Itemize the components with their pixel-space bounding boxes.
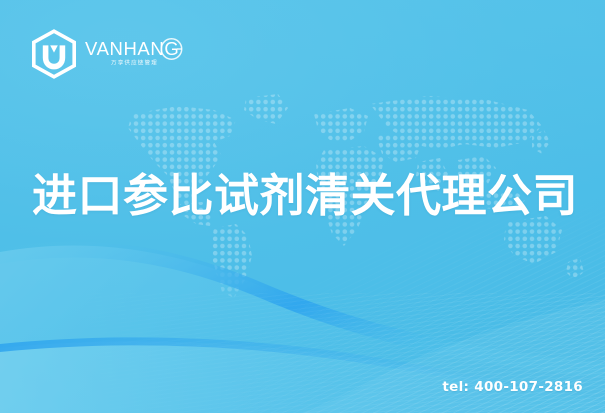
svg-text:万享供应链管理: 万享供应链管理	[111, 59, 158, 67]
contact-phone[interactable]: tel: 400-107-2816	[442, 379, 583, 395]
promo-banner: VANHANG 万享供应链管理 进口参比试剂清关代理公司 tel: 400-10…	[0, 0, 605, 413]
page-title: 进口参比试剂清关代理公司	[32, 173, 578, 218]
hexagon-u-logo-icon	[30, 29, 78, 79]
svg-text:VANHANG: VANHANG	[85, 38, 179, 59]
logo-wordmark: VANHANG 万享供应链管理	[85, 37, 185, 71]
logo[interactable]: VANHANG 万享供应链管理	[30, 29, 185, 79]
